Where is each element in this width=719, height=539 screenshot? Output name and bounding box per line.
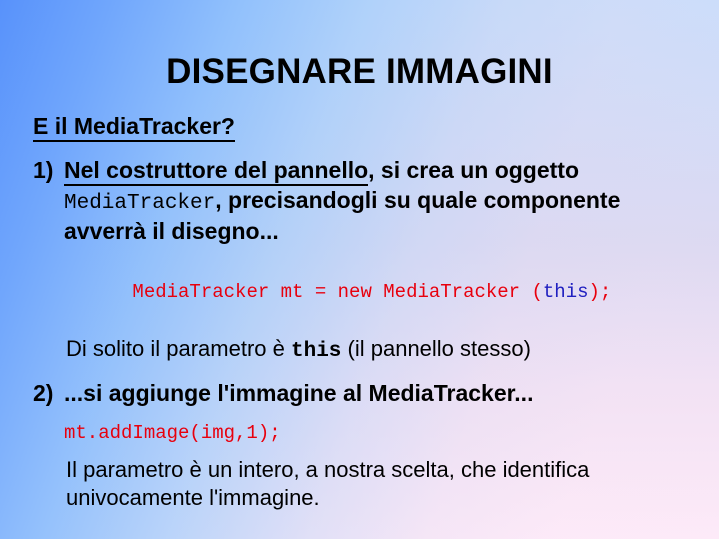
note-1-tail: (il pannello stesso) <box>341 336 531 361</box>
list-item-2-marker: 2) <box>33 379 53 409</box>
list-item-1: 1)Nel costruttore del pannello, si crea … <box>33 156 693 247</box>
note-1: Di solito il parametro è this (il pannel… <box>66 335 693 365</box>
slide-body: E il MediaTracker? 1)Nel costruttore del… <box>33 114 693 512</box>
code-line-1-before: MediaTracker mt = new MediaTracker ( <box>132 281 542 303</box>
code-line-1-after: ); <box>589 281 612 303</box>
page-title: DISEGNARE IMMAGINI <box>0 54 719 89</box>
section-subheading-text: E il MediaTracker? <box>33 113 235 142</box>
code-line-1: MediaTracker mt = new MediaTracker (this… <box>64 259 693 325</box>
list-item-1-text-a: , si crea un oggetto <box>368 157 579 183</box>
note-1-mono-term: this <box>291 340 341 363</box>
list-item-2: 2)...si aggiunge l'immagine al MediaTrac… <box>33 379 693 409</box>
note-1-lead: Di solito il parametro è <box>66 336 291 361</box>
list-item-2-text: ...si aggiunge l'immagine al MediaTracke… <box>64 380 533 406</box>
list-item-1-underlined-lead: Nel costruttore del pannello <box>64 157 368 186</box>
list-item-1-mono-term: MediaTracker <box>64 192 215 215</box>
note-2: Il parametro è un intero, a nostra scelt… <box>66 456 693 511</box>
code-line-2: mt.addImage(img,1); <box>64 422 693 444</box>
code-line-1-keyword-this: this <box>543 281 589 303</box>
section-subheading: E il MediaTracker? <box>33 114 693 140</box>
slide-canvas: DISEGNARE IMMAGINI E il MediaTracker? 1)… <box>0 0 719 539</box>
list-item-1-marker: 1) <box>33 156 53 186</box>
